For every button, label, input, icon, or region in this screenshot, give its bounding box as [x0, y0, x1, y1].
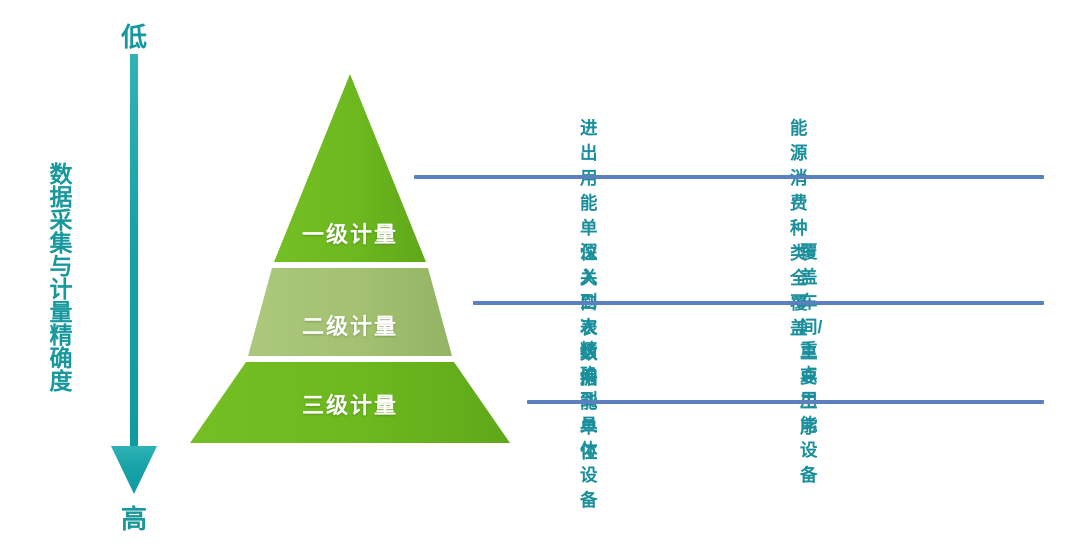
pyramid-tier-3-label: 三级计量: [180, 388, 520, 420]
axis-cap-high: 高: [98, 504, 170, 534]
annotation-row-3-text-b: 重点用能设备: [800, 338, 818, 488]
axis-arrow-group: 低 高: [98, 22, 170, 534]
annotation-row-2-rule: [473, 301, 1044, 305]
annotation-row-1-rule: [414, 175, 1044, 179]
axis-vertical-label: 数据采集与计量精确度: [32, 62, 78, 492]
down-arrow-icon: [98, 22, 170, 534]
pyramid-chart: 一级计量 二级计量 三级计量: [180, 66, 520, 451]
diagram-canvas: 数据采集与计量精确度 低 高: [0, 0, 1080, 557]
pyramid-tier-1-label: 一级计量: [180, 217, 520, 249]
pyramid-tier-2-label: 二级计量: [180, 309, 520, 341]
annotation-row-3-rule: [527, 400, 1044, 404]
axis-cap-low: 低: [98, 22, 170, 52]
annotation-row-3-text-a: 精确到具体 设备: [580, 338, 598, 513]
